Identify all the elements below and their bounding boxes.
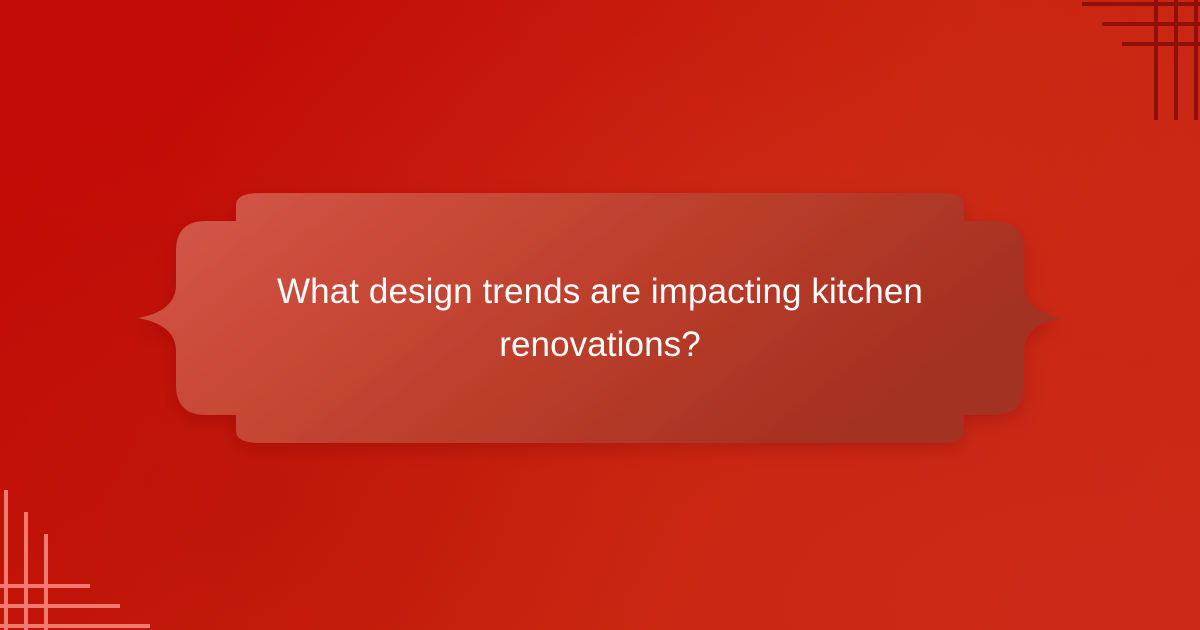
question-headline: What design trends are impacting kitchen… (240, 265, 960, 371)
question-card: What design trends are impacting kitchen… (108, 193, 1092, 443)
card-text-block: What design trends are impacting kitchen… (108, 193, 1092, 443)
poster-canvas: What design trends are impacting kitchen… (0, 0, 1200, 630)
